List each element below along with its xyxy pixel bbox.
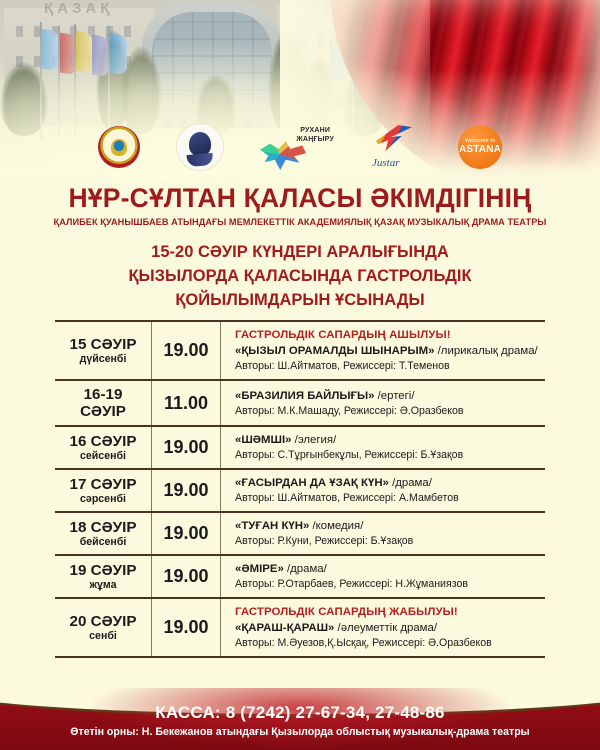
schedule-highlight-banner: ГАСТРОЛЬДІК САПАРДЫҢ ЖАБЫЛУЫ! [235,604,541,620]
box-office-phone[interactable]: КАССА: 8 (7242) 27-67-34, 27-48-86 [0,702,600,723]
schedule-date: 18 СӘУІР [57,519,149,536]
schedule-time: 19.00 [152,321,221,380]
schedule-date-cell: 16-19СӘУІР [55,380,152,426]
schedule-weekday: дүйсенбі [57,353,149,366]
table-row: 15 СӘУІРдүйсенбі19.00ГАСТРОЛЬДІК САПАРДЫ… [55,321,545,380]
schedule-weekday: сәрсенбі [57,493,149,506]
schedule-time: 19.00 [152,598,221,657]
schedule-time: 11.00 [152,380,221,426]
schedule-date-second-line: СӘУІР [57,403,149,420]
performance-title-line: «ШӘМШІ» /элегия/ [235,432,541,448]
sponsor-logo-strip: РУХАНИ ЖАҢҒЫРУ Justar Welcome to ASTANA [0,118,600,176]
schedule-date-cell: 19 СӘУІРжұма [55,555,152,598]
bird-icon [260,140,306,170]
schedule-body: 15 СӘУІРдүйсенбі19.00ГАСТРОЛЬДІК САПАРДЫ… [55,321,545,657]
logo-kazakhstan-emblem [98,126,140,168]
ruhani-zhangyru-label: РУХАНИ ЖАҢҒЫРУ [296,126,334,144]
schedule-time: 19.00 [152,512,221,555]
justar-arrow-icon [376,125,412,151]
performance-genre: /элегия/ [295,434,337,446]
ruhani-line2: ЖАҢҒЫРУ [296,136,334,143]
performance-genre: /лирикалық драма/ [438,345,538,357]
schedule-description-cell: «ҒАСЫРДАН ДА ҰЗАҚ КҮН» /драма/Авторы: Ш.… [221,469,546,512]
kazakhstan-state-emblem-icon [98,126,140,168]
schedule-description-cell: «ТУҒАН КҮН» /комедия/Авторы: Р.Куни, Реж… [221,512,546,555]
schedule-date-cell: 20 СӘУІРсенбі [55,598,152,657]
performance-title: «ҒАСЫРДАН ДА ҰЗАҚ КҮН» [235,477,389,489]
schedule-date-cell: 15 СӘУІРдүйсенбі [55,321,152,380]
performance-credits: Авторы: М.К.Машаду, Режиссері: Ә.Оразбек… [235,404,541,419]
performance-title-line: «ҚЫЗЫЛ ОРАМАЛДЫ ШЫНАРЫМ» /лирикалық драм… [235,343,541,359]
performance-title: «ҚАРАШ-ҚАРАШ» [235,622,334,634]
tour-line-1: 15-20 СӘУІР КҮНДЕРІ АРАЛЫҒЫНДА [0,240,600,264]
performance-title: «БРАЗИЛИЯ БАЙЛЫҒЫ» [235,390,374,402]
schedule-time: 19.00 [152,426,221,469]
performance-credits: Авторы: Ш.Айтматов, Режиссері: Т.Теменов [235,359,541,374]
schedule-date: 16-19 [57,386,149,403]
logo-welcome-to-astana: Welcome to ASTANA [458,125,502,169]
logo-kalibek-kuanyshbaev [176,123,224,171]
schedule-weekday: жұма [57,579,149,592]
schedule-date: 16 СӘУІР [57,433,149,450]
performance-title-line: «ҚАРАШ-ҚАРАШ» /әлеуметтік драма/ [235,620,541,636]
schedule-date-cell: 17 СӘУІРсәрсенбі [55,469,152,512]
justar-label: Justar [372,157,400,169]
performance-title: «ТУҒАН КҮН» [235,520,309,532]
schedule-description-cell: «БРАЗИЛИЯ БАЙЛЫҒЫ» /ертегі/Авторы: М.К.М… [221,380,546,426]
performance-schedule-table: 15 СӘУІРдүйсенбі19.00ГАСТРОЛЬДІК САПАРДЫ… [55,320,545,658]
performance-title-line: «ӘМІРЕ» /драма/ [235,561,541,577]
performance-genre: /ертегі/ [378,390,415,402]
performance-credits: Авторы: Р.Отарбаев, Режиссері: Н.Жұмания… [235,577,541,592]
theatre-tour-poster: ҚАЗАҚ ТЕАТРЫ РУХАНИ ЖАҢҒЫРУ Justar Welco… [0,0,600,750]
performance-title-line: «ТУҒАН КҮН» /комедия/ [235,518,541,534]
footer-content: КАССА: 8 (7242) 27-67-34, 27-48-86 Өтеті… [0,688,600,740]
table-row: 19 СӘУІРжұма19.00«ӘМІРЕ» /драма/Авторы: … [55,555,545,598]
performance-credits: Авторы: Р.Куни, Режиссері: Б.Ұзақов [235,534,541,549]
performance-credits: Авторы: М.Әуезов,Қ.Ысқақ, Режиссері: Ә.О… [235,636,541,651]
performance-genre: /драма/ [287,563,327,575]
schedule-date: 17 СӘУІР [57,476,149,493]
astana-badge-icon: Welcome to ASTANA [458,125,502,169]
schedule-weekday: сейсенбі [57,450,149,463]
footer-contact-banner: КАССА: 8 (7242) 27-67-34, 27-48-86 Өтеті… [0,688,600,750]
logo-justar: Justar [370,125,422,169]
astana-city-label: ASTANA [459,145,501,156]
tour-announcement: 15-20 СӘУІР КҮНДЕРІ АРАЛЫҒЫНДА ҚЫЗЫЛОРДА… [0,240,600,312]
table-row: 20 СӘУІРсенбі19.00ГАСТРОЛЬДІК САПАРДЫҢ Ж… [55,598,545,657]
page-title: НҰР-СҰЛТАН ҚАЛАСЫ ӘКІМДІГІНІҢ [0,183,600,213]
table-row: 17 СӘУІРсәрсенбі19.00«ҒАСЫРДАН ДА ҰЗАҚ К… [55,469,545,512]
ruhani-line1: РУХАНИ [300,127,330,134]
performance-title: «ӘМІРЕ» [235,563,284,575]
schedule-date: 15 СӘУІР [57,336,149,353]
performance-genre: /әлеуметтік драма/ [338,622,437,634]
schedule-date-cell: 16 СӘУІРсейсенбі [55,426,152,469]
schedule-date: 20 СӘУІР [57,613,149,630]
schedule-weekday: бейсенбі [57,536,149,549]
theatre-name: ҚАЛИБЕК ҚУАНЫШБАЕВ АТЫНДАҒЫ МЕМЛЕКЕТТІК … [0,217,600,227]
performance-title: «ҚЫЗЫЛ ОРАМАЛДЫ ШЫНАРЫМ» [235,345,434,357]
table-row: 16 СӘУІРсейсенбі19.00«ШӘМШІ» /элегия/Авт… [55,426,545,469]
schedule-time: 19.00 [152,469,221,512]
table-row: 16-19СӘУІР11.00«БРАЗИЛИЯ БАЙЛЫҒЫ» /ертег… [55,380,545,426]
performance-title: «ШӘМШІ» [235,434,292,446]
schedule-description-cell: ГАСТРОЛЬДІК САПАРДЫҢ ЖАБЫЛУЫ!«ҚАРАШ-ҚАРА… [221,598,546,657]
schedule-date: 19 СӘУІР [57,562,149,579]
performance-credits: Авторы: С.Тұрғынбекұлы, Режиссері: Б.Ұза… [235,448,541,463]
schedule-description-cell: «ӘМІРЕ» /драма/Авторы: Р.Отарбаев, Режис… [221,555,546,598]
poster-title-block: НҰР-СҰЛТАН ҚАЛАСЫ ӘКІМДІГІНІҢ ҚАЛИБЕК ҚУ… [0,183,600,227]
portrait-icon [176,123,224,171]
tour-line-3: ҚОЙЫЛЫМДАРЫН ҰСЫНАДЫ [0,288,600,312]
logo-ruhani-zhangyru: РУХАНИ ЖАҢҒЫРУ [260,124,334,170]
schedule-description-cell: ГАСТРОЛЬДІК САПАРДЫҢ АШЫЛУЫ!«ҚЫЗЫЛ ОРАМА… [221,321,546,380]
performance-genre: /комедия/ [312,520,363,532]
schedule-date-cell: 18 СӘУІРбейсенбі [55,512,152,555]
performance-title-line: «ҒАСЫРДАН ДА ҰЗАҚ КҮН» /драма/ [235,475,541,491]
schedule-weekday: сенбі [57,630,149,643]
performance-genre: /драма/ [392,477,432,489]
table-row: 18 СӘУІРбейсенбі19.00«ТУҒАН КҮН» /комеди… [55,512,545,555]
schedule-description-cell: «ШӘМШІ» /элегия/Авторы: С.Тұрғынбекұлы, … [221,426,546,469]
performance-title-line: «БРАЗИЛИЯ БАЙЛЫҒЫ» /ертегі/ [235,388,541,404]
tour-line-2: ҚЫЗЫЛОРДА ҚАЛАСЫНДА ГАСТРОЛЬДІК [0,264,600,288]
schedule-time: 19.00 [152,555,221,598]
performance-credits: Авторы: Ш.Айтматов, Режиссері: А.Мамбето… [235,491,541,506]
schedule-highlight-banner: ГАСТРОЛЬДІК САПАРДЫҢ АШЫЛУЫ! [235,327,541,343]
venue-address: Өтетін орны: Н. Бекежанов атындағы Қызыл… [0,725,600,740]
